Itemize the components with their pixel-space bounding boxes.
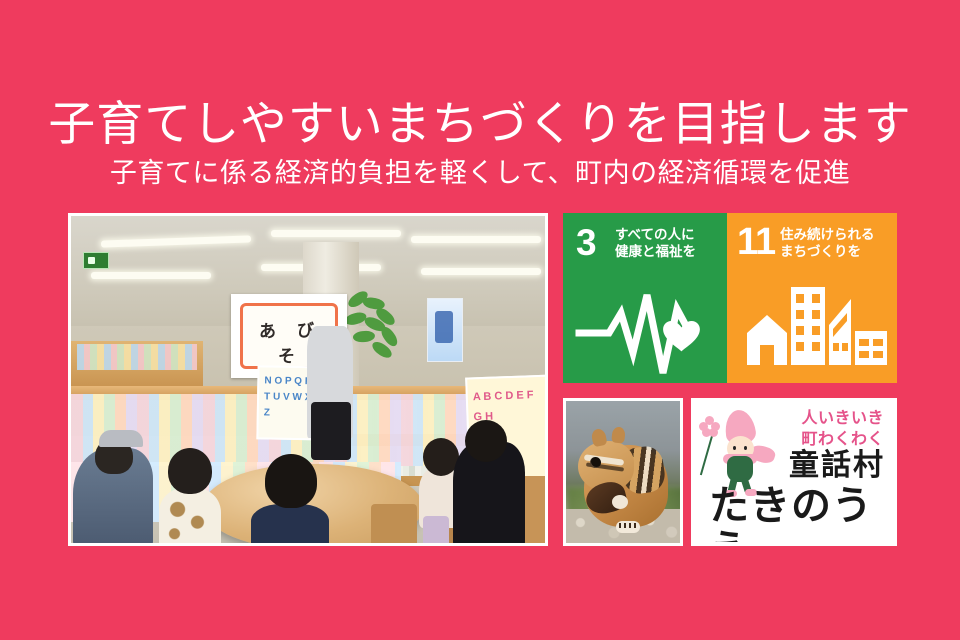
sdg-badge-11: 11 住み続けられる まちづくりを bbox=[727, 213, 897, 383]
logo-tagline: 人いきいき 町わくわく bbox=[801, 408, 884, 450]
library-photo: あ び そ bbox=[68, 213, 548, 546]
chair bbox=[371, 504, 417, 546]
chipmunk-ear bbox=[611, 426, 626, 443]
logo-line-takinoue: たきのうえ bbox=[709, 484, 893, 546]
child-one-head bbox=[168, 448, 212, 494]
sdg-3-number: 3 bbox=[576, 224, 596, 261]
fairy-eye bbox=[733, 446, 736, 450]
chipmunk-photo bbox=[563, 398, 683, 546]
child-three-legs bbox=[423, 516, 449, 546]
chipmunk-foot bbox=[616, 521, 640, 533]
chipmunk-paw bbox=[612, 495, 628, 509]
sign-char-a: あ bbox=[259, 317, 276, 342]
chipmunk-eye bbox=[590, 457, 601, 468]
sdg-3-label: すべての人に 健康と福祉を bbox=[615, 226, 696, 260]
sdg-11-label: 住み続けられる まちづくりを bbox=[780, 226, 875, 260]
child-two-body bbox=[251, 504, 329, 546]
exit-sign-icon bbox=[83, 252, 109, 269]
ceiling-light bbox=[421, 268, 541, 275]
adult-left-cap bbox=[99, 430, 143, 447]
standing-adult-legs bbox=[311, 402, 351, 460]
sign-char-c: そ bbox=[278, 342, 295, 367]
sdg-11-number: 11 bbox=[737, 224, 775, 261]
child-two-head bbox=[265, 454, 317, 508]
town-logo: 人いきいき 町わくわく 童話村 たきのうえ bbox=[691, 398, 897, 546]
flower-icon bbox=[699, 416, 719, 436]
ceiling-light bbox=[411, 236, 541, 243]
wall-poster bbox=[427, 298, 463, 362]
chipmunk-ear bbox=[590, 428, 607, 448]
fairy-mascot-icon bbox=[703, 408, 783, 492]
city-buildings-icon bbox=[727, 269, 897, 383]
heartbeat-heart-icon bbox=[563, 269, 733, 383]
sdg-badge-3: 3 すべての人に 健康と福祉を bbox=[563, 213, 733, 383]
ceiling-light bbox=[271, 230, 401, 237]
counter-display bbox=[77, 344, 197, 370]
fairy-eye bbox=[744, 446, 747, 450]
child-one-body bbox=[159, 488, 221, 546]
logo-line-doiwamura: 童話村 bbox=[789, 450, 885, 482]
page-subtitle: 子育てに係る経済的負担を軽くして、町内の経済循環を促進 bbox=[0, 156, 960, 190]
adult-right-head bbox=[465, 420, 507, 462]
promo-banner: 子育てしやすいまちづくりを目指します 子育てに係る経済的負担を軽くして、町内の経… bbox=[0, 0, 960, 640]
ceiling-light bbox=[91, 272, 211, 279]
page-title: 子育てしやすいまちづくりを目指します bbox=[0, 96, 960, 152]
